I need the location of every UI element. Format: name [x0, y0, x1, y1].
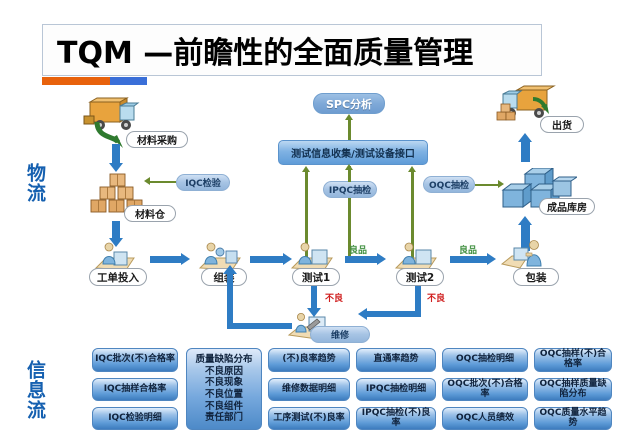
arrowhead-packaging-fg: [518, 216, 532, 225]
page-title: TQM —前瞻性的全面质量管理: [57, 28, 473, 72]
ipqc-sampling-pill[interactable]: IPQC抽检: [323, 181, 377, 198]
arrow-test1-to-test2: [345, 256, 378, 263]
test-info-collection-box[interactable]: 测试信息收集/测试设备接口: [278, 140, 428, 165]
arrow-iqc-to-warehouse: [150, 181, 176, 183]
oqc-sampling-pill[interactable]: OQC抽检: [423, 176, 475, 193]
arrow-repair-return-vert: [227, 272, 233, 325]
kpi-tile[interactable]: 工序测试(不)良率: [268, 407, 350, 430]
arrowhead-test1-collect: [302, 166, 310, 172]
iqc-inspection-pill[interactable]: IQC检验: [176, 174, 230, 191]
callout-test2: 测试2: [396, 268, 444, 286]
kpi-tile[interactable]: OQC抽样(不)合格率: [534, 348, 612, 372]
kpi-tile[interactable]: OQC批次(不)合格率: [442, 378, 528, 401]
title-accent-blue: [110, 77, 147, 85]
arrowhead-workorder-assembly: [181, 253, 190, 265]
callout-material-warehouse: 材料仓: [124, 205, 176, 222]
arrowhead-test1-test2: [377, 253, 386, 265]
spc-analysis-box[interactable]: SPC分析: [313, 93, 385, 114]
arrowhead-test2-collect: [408, 166, 416, 172]
kpi-tile[interactable]: (不)良率趋势: [268, 348, 350, 372]
kpi-tile[interactable]: IPQC抽检明细: [356, 378, 436, 401]
arrowhead-test2-repair: [358, 308, 367, 320]
kpi-tile[interactable]: 直通率趋势: [356, 348, 436, 372]
arrow-assembly-to-test1: [250, 256, 284, 263]
arrow-purchase-to-warehouse: [112, 144, 120, 164]
arrowhead-repair-assembly: [223, 265, 237, 274]
kpi-tile[interactable]: 维修数据明细: [268, 378, 350, 401]
kpi-tile[interactable]: OQC抽检明细: [442, 348, 528, 372]
title-box: TQM —前瞻性的全面质量管理: [42, 24, 542, 76]
kpi-tile[interactable]: IQC批次(不)合格率: [92, 348, 178, 372]
kpi-tile[interactable]: IQC抽样合格率: [92, 378, 178, 401]
callout-fg-warehouse: 成品库房: [539, 198, 595, 215]
kpi-tile[interactable]: OQC质量水平趋势: [534, 407, 612, 430]
kpi-tile[interactable]: OQC人员绩效: [442, 407, 528, 430]
kpi-tile-defect-distribution[interactable]: 质量缺陷分布 不良原因 不良现象 不良位置 不良组件 责任部门: [186, 348, 262, 430]
arrow-test2-to-packaging: [450, 256, 488, 263]
arrow-test1-to-repair: [311, 286, 317, 310]
side-label-logistics: 物流: [18, 163, 44, 203]
kpi-tile[interactable]: IQC检验明细: [92, 407, 178, 430]
arrow-collect-to-spc: [348, 120, 351, 140]
arrow-ipqc-stem: [348, 166, 351, 182]
arrowhead-iqc-warehouse: [144, 177, 150, 185]
arrowhead-test2-packaging: [487, 253, 496, 265]
kpi-tile[interactable]: OQC抽样质量缺陷分布: [534, 378, 612, 401]
callout-material-purchase: 材料采购: [126, 131, 188, 148]
flow-tag-bad-test2: 不良: [427, 291, 445, 304]
title-accent-orange: [42, 77, 110, 85]
callout-work-order: 工单投入: [89, 268, 147, 286]
callout-packaging: 包装: [513, 268, 559, 286]
flow-tag-good-test1: 良品: [349, 243, 367, 256]
arrowhead-fg-shipment: [518, 133, 532, 142]
arrowhead-purchase-warehouse: [109, 163, 123, 172]
flow-tag-bad-test1: 不良: [325, 291, 343, 304]
arrow-oqc-to-fg: [475, 184, 499, 186]
flow-tag-good-test2: 良品: [459, 243, 477, 256]
kpi-tile[interactable]: IPQC抽检(不)良率: [356, 407, 436, 430]
arrow-workorder-to-assembly: [150, 256, 182, 263]
repair-pill[interactable]: 维修: [310, 326, 370, 343]
arrow-repair-return-horiz: [227, 323, 292, 329]
slide-canvas: TQM —前瞻性的全面质量管理 物流 信息流 材料采购: [0, 0, 640, 443]
arrow-fg-to-shipment: [521, 140, 530, 162]
callout-shipment: 出货: [540, 116, 584, 133]
arrow-test2-bad-horiz: [366, 311, 421, 317]
callout-test1: 测试1: [292, 268, 340, 286]
arrowhead-collect-spc: [345, 114, 353, 120]
side-label-information-flow: 信息流: [18, 360, 44, 420]
